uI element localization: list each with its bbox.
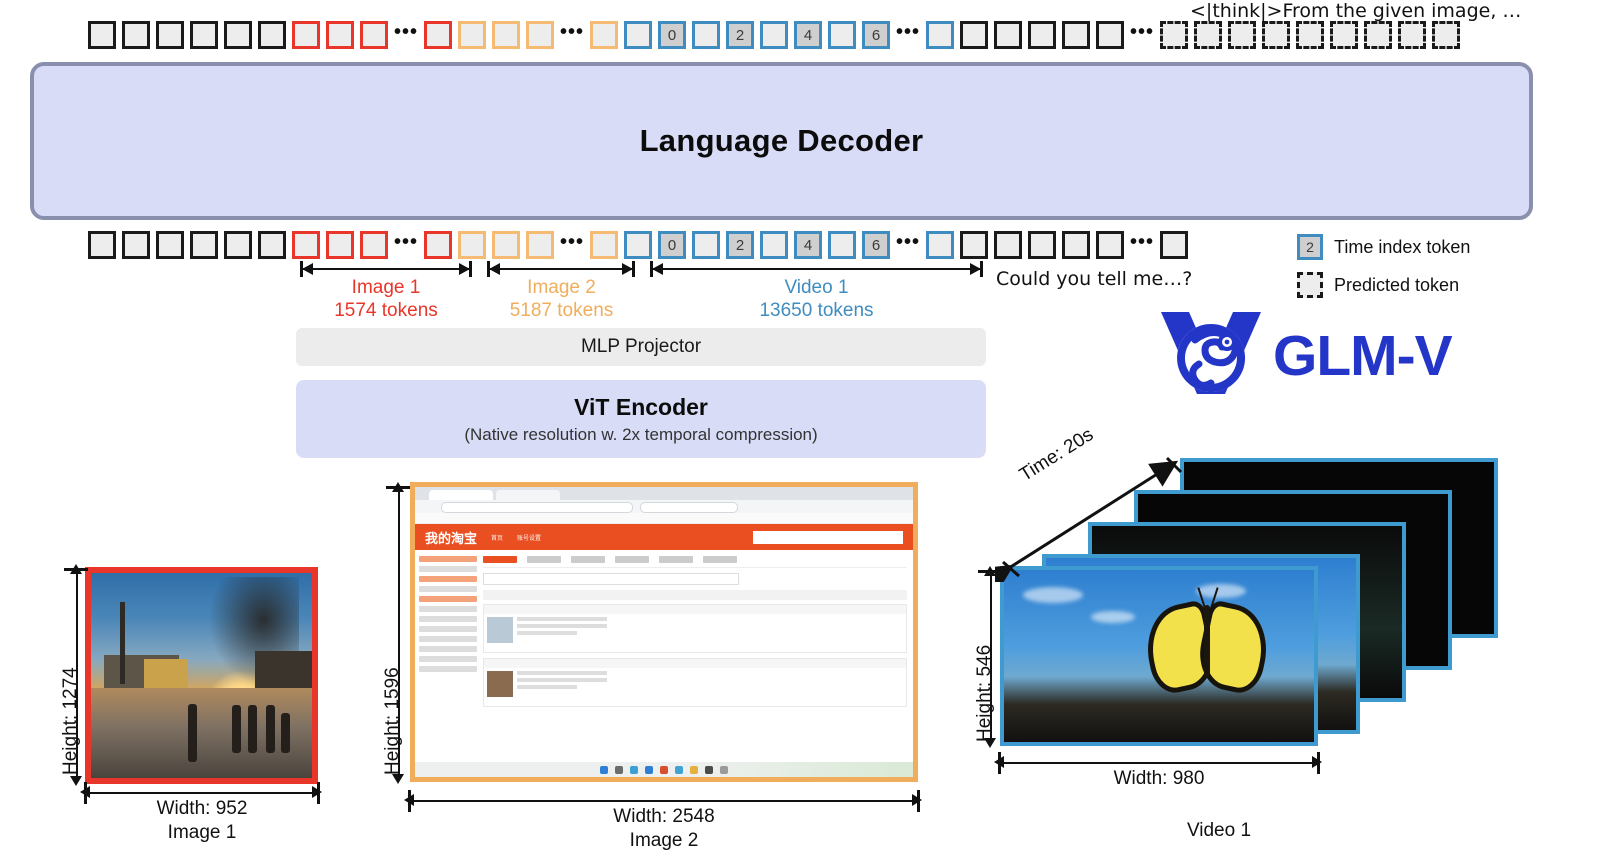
image2-height-label: Height: 1596	[382, 667, 404, 775]
taobao-sidebar	[415, 550, 481, 700]
input-token-black	[156, 231, 184, 259]
token-ellipsis: •••	[394, 27, 418, 43]
output-token-black	[960, 21, 988, 49]
legend-label-predicted: Predicted token	[1334, 275, 1459, 296]
output-token-orange	[458, 21, 486, 49]
span-video1-label: Video 1	[650, 276, 983, 299]
input-token-timeidx: 0	[658, 231, 686, 259]
output-token-black	[122, 21, 150, 49]
output-token-timeidx: 6	[862, 21, 890, 49]
span-image1-label: Image 1	[300, 276, 472, 299]
image2-width-line	[410, 800, 918, 802]
output-token-orange	[526, 21, 554, 49]
windows-taskbar	[415, 762, 913, 777]
input-token-orange	[590, 231, 618, 259]
input-token-black	[994, 231, 1022, 259]
input-token-black	[88, 231, 116, 259]
vit-encoder-block: ViT Encoder (Native resolution w. 2x tem…	[296, 380, 986, 458]
input-token-timeidx: 6	[862, 231, 890, 259]
output-token-timeidx: 2	[726, 21, 754, 49]
order-row	[483, 604, 907, 653]
span-image2-count: 5187 tokens	[480, 299, 643, 322]
time-index-token-icon: 2	[1297, 234, 1323, 260]
vit-encoder-title: ViT Encoder	[574, 394, 708, 421]
output-token-black	[190, 21, 218, 49]
mlp-projector-label: MLP Projector	[581, 336, 701, 358]
input-token-red	[326, 231, 354, 259]
token-ellipsis: •••	[896, 27, 920, 43]
taobao-search-field	[753, 531, 903, 544]
input-token-black	[1096, 231, 1124, 259]
video1-width-line	[1000, 762, 1318, 764]
span-video1-count: 13650 tokens	[650, 299, 983, 322]
input-token-blue	[760, 231, 788, 259]
input-token-black	[224, 231, 252, 259]
output-token-dashed	[1398, 21, 1426, 49]
output-token-dashed	[1160, 21, 1188, 49]
output-token-red	[292, 21, 320, 49]
output-token-black	[1028, 21, 1056, 49]
output-token-row: ••••••0246••••••	[88, 18, 1466, 52]
input-token-blue	[692, 231, 720, 259]
browser-tab-1	[429, 490, 493, 500]
input-token-black	[122, 231, 150, 259]
output-token-dashed	[1432, 21, 1460, 49]
output-token-red	[326, 21, 354, 49]
output-token-red	[424, 21, 452, 49]
video-frame-front	[1000, 566, 1318, 746]
output-token-black	[156, 21, 184, 49]
output-token-black	[1096, 21, 1124, 49]
legend: 2 Time index token Predicted token	[1297, 232, 1470, 308]
output-token-blue	[926, 21, 954, 49]
output-token-blue	[760, 21, 788, 49]
input-token-red	[424, 231, 452, 259]
output-token-dashed	[1228, 21, 1256, 49]
legend-item-predicted: Predicted token	[1297, 270, 1470, 300]
output-token-timeidx: 4	[794, 21, 822, 49]
predicted-token-icon	[1297, 272, 1323, 298]
glm-v-logo: GLM-V	[1155, 306, 1505, 406]
mlp-projector-block: MLP Projector	[296, 328, 986, 366]
output-token-dashed	[1262, 21, 1290, 49]
input-token-blue	[828, 231, 856, 259]
language-decoder-block: Language Decoder	[30, 62, 1533, 220]
glm-v-wordmark: GLM-V	[1273, 323, 1452, 389]
legend-label-time-index: Time index token	[1334, 237, 1470, 258]
output-token-dashed	[1364, 21, 1392, 49]
output-token-black	[1062, 21, 1090, 49]
input-token-orange	[526, 231, 554, 259]
input-token-orange	[458, 231, 486, 259]
token-ellipsis: •••	[896, 237, 920, 253]
output-token-black	[994, 21, 1022, 49]
order-row	[483, 658, 907, 707]
video1-caption: Video 1	[1060, 820, 1378, 842]
taobao-order-list	[481, 550, 913, 700]
taobao-nav-home: 首页	[491, 533, 503, 542]
input-token-timeidx: 2	[726, 231, 754, 259]
input-token-black	[258, 231, 286, 259]
browser-search-box	[640, 502, 738, 513]
image2-caption: Image 2	[410, 830, 918, 852]
input-token-orange	[492, 231, 520, 259]
image1-width-line	[86, 792, 318, 794]
browser-tab-2	[496, 490, 560, 500]
output-token-black	[88, 21, 116, 49]
user-prompt-text: Could you tell me…?	[996, 268, 1192, 290]
output-token-blue	[692, 21, 720, 49]
order-search-input	[483, 573, 739, 585]
vit-encoder-subtitle: (Native resolution w. 2x temporal compre…	[464, 425, 817, 445]
input-token-black	[190, 231, 218, 259]
order-tabs	[483, 556, 907, 568]
browser-url-bar	[441, 502, 633, 513]
output-token-dashed	[1296, 21, 1324, 49]
token-ellipsis: •••	[560, 27, 584, 43]
input-token-black	[960, 231, 988, 259]
output-token-timeidx: 0	[658, 21, 686, 49]
output-token-black	[258, 21, 286, 49]
input-token-black	[1028, 231, 1056, 259]
butterfly-icon	[1147, 601, 1267, 687]
order-table-header	[483, 590, 907, 600]
token-ellipsis: •••	[394, 237, 418, 253]
span-image2-label: Image 2	[480, 276, 643, 299]
taobao-nav-account: 账号设置	[517, 533, 541, 542]
span-image1-count: 1574 tokens	[300, 299, 472, 322]
output-token-red	[360, 21, 388, 49]
input-token-blue	[926, 231, 954, 259]
legend-item-time-index: 2 Time index token	[1297, 232, 1470, 262]
image1-width-label: Width: 952	[86, 798, 318, 820]
output-token-dashed	[1194, 21, 1222, 49]
token-ellipsis: •••	[1130, 27, 1154, 43]
video1-height-label: Height: 546	[974, 645, 996, 742]
input-token-row: ••••••0246••••••	[88, 228, 1194, 262]
input-token-black	[1062, 231, 1090, 259]
image2-width-label: Width: 2548	[410, 806, 918, 828]
image1-height-label: Height: 1274	[60, 667, 82, 775]
language-decoder-label: Language Decoder	[640, 123, 924, 159]
taobao-logo: 我的淘宝	[425, 528, 477, 547]
token-ellipsis: •••	[1130, 237, 1154, 253]
input-token-black	[1160, 231, 1188, 259]
input-token-timeidx: 4	[794, 231, 822, 259]
input-token-red	[360, 231, 388, 259]
video1-width-label: Width: 980	[1000, 768, 1318, 790]
output-token-orange	[590, 21, 618, 49]
diagram-canvas: <|think|>From the given image, … ••••••0…	[0, 0, 1600, 868]
input-token-blue	[624, 231, 652, 259]
output-token-orange	[492, 21, 520, 49]
image1-caption: Image 1	[86, 822, 318, 844]
image1-thumbnail	[85, 567, 318, 784]
output-token-blue	[828, 21, 856, 49]
image2-thumbnail: 我的淘宝 首页 账号设置	[410, 482, 918, 782]
output-token-black	[224, 21, 252, 49]
input-token-red	[292, 231, 320, 259]
token-ellipsis: •••	[560, 237, 584, 253]
taobao-topnav	[415, 513, 913, 524]
chameleon-logo-icon	[1155, 308, 1267, 404]
taobao-header: 我的淘宝 首页 账号设置	[415, 524, 913, 550]
output-token-blue	[624, 21, 652, 49]
output-token-dashed	[1330, 21, 1358, 49]
